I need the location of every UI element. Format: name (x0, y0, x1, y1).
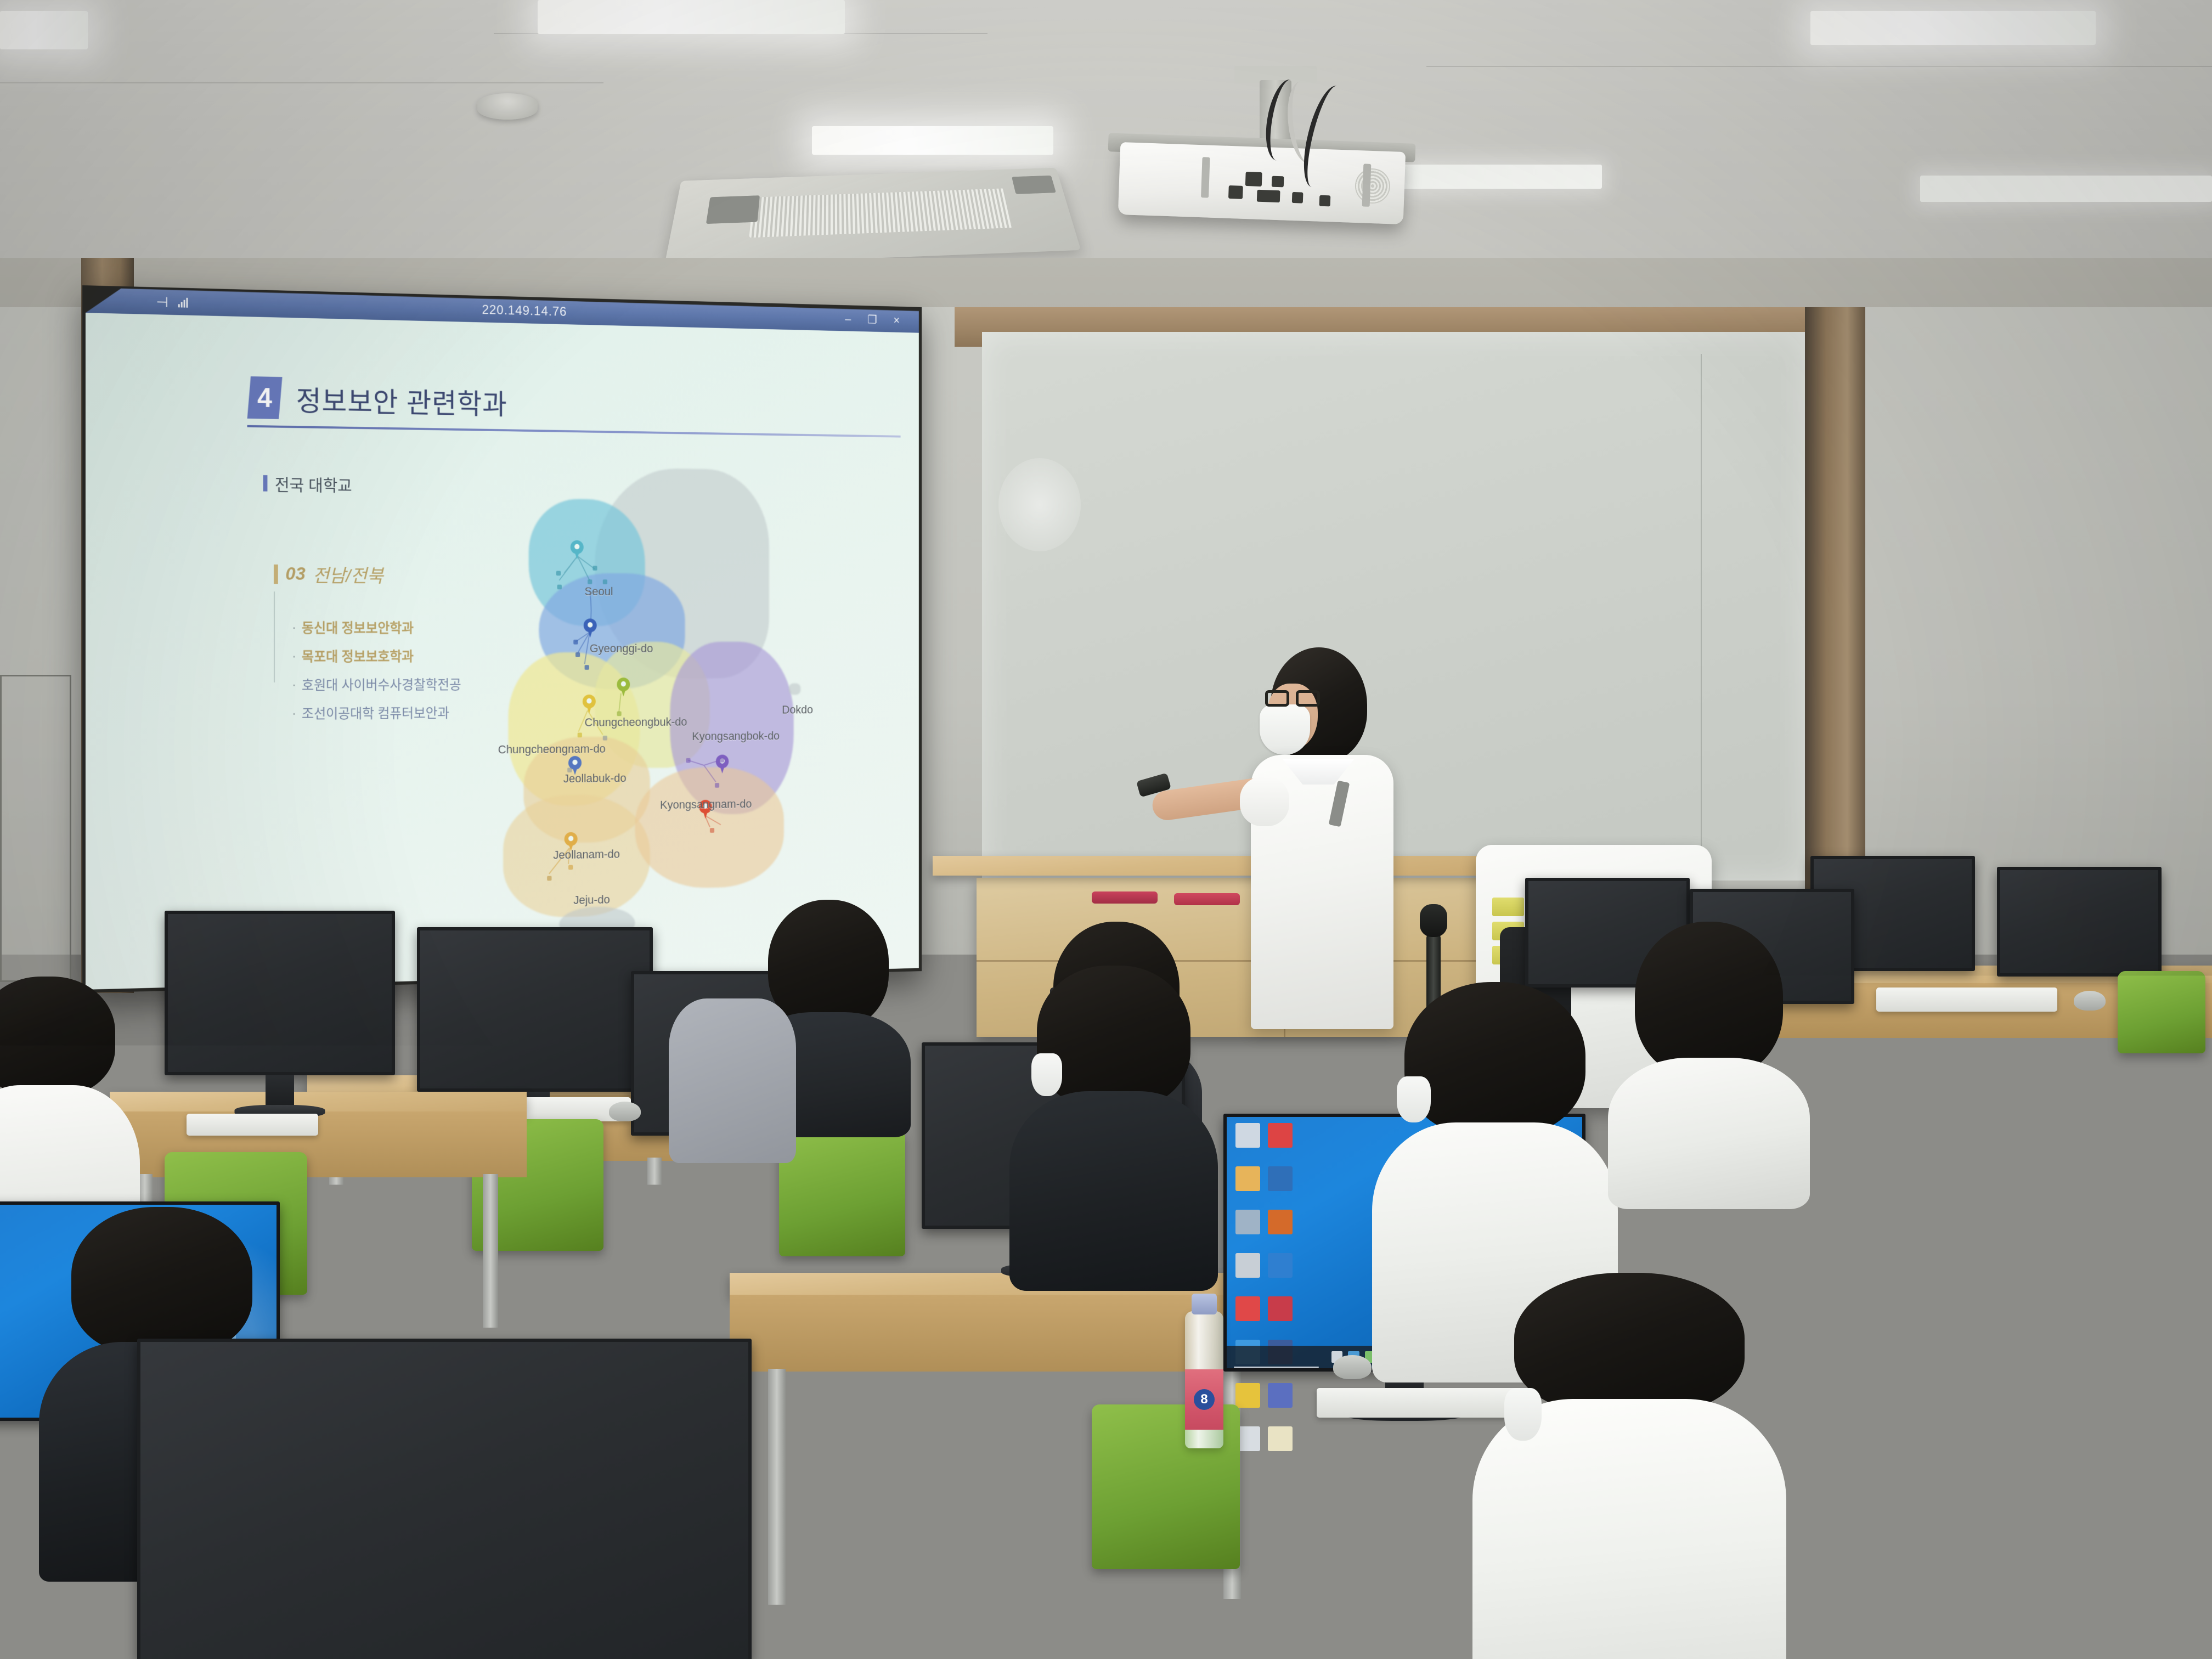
map-pin-chungcheongbuk-do[interactable] (617, 678, 630, 696)
slide-subtitle: 전국 대학교 (263, 471, 352, 496)
student-torso (1608, 1058, 1809, 1209)
student-head (0, 977, 115, 1096)
list-item: 호원대 사이버수사경찰학전공 (292, 674, 461, 694)
mouse[interactable] (2074, 991, 2106, 1011)
ceiling-mounted-projector (1086, 66, 1437, 230)
student-head (1514, 1273, 1745, 1415)
face-mask (1260, 704, 1310, 755)
subtitle-accent-bar (263, 475, 268, 492)
student (686, 998, 779, 1163)
face-mask (1031, 1053, 1062, 1096)
ceiling-light (812, 126, 1053, 155)
south-korea-region-map: Seoul Gyeonggi-do Chungcheongbuk-do Chun… (488, 466, 848, 935)
header-divider (247, 425, 901, 438)
desktop-icon-grid[interactable] (1235, 1123, 1293, 1333)
desktop-monitor[interactable] (417, 927, 653, 1092)
taskbar-search-box[interactable] (1234, 1367, 1319, 1368)
bottle-badge: 8 (1819, 1600, 1840, 1621)
map-label-jeollabuk-do: Jeollabuk-do (563, 771, 627, 786)
mouse[interactable] (1333, 1355, 1372, 1379)
map-pin-chungcheongnam-do[interactable] (583, 695, 596, 713)
bottle-cap (1814, 1490, 1846, 1512)
whiteboard-marker[interactable] (1174, 893, 1240, 905)
ceiling-light (0, 11, 88, 49)
signal-bars-icon (178, 297, 188, 307)
desktop-monitor[interactable] (1997, 867, 2162, 977)
presenter-sleeve (1240, 777, 1289, 826)
taskbar-icon[interactable] (1885, 1641, 1898, 1654)
desktop-monitor[interactable] (137, 1339, 752, 1659)
bottle-badge: 8 (1194, 1389, 1215, 1410)
presentation-slide: 4 정보보안 관련학과 전국 대학교 03 전남/전북 동신대 정보보안학과 (86, 313, 919, 990)
wall-panel (0, 675, 71, 982)
keyboard[interactable] (1317, 1388, 1536, 1418)
student (1635, 922, 1783, 1174)
wood-column (1805, 307, 1865, 949)
shirt-collar (1283, 759, 1354, 785)
map-label-kyongsangbok-do: Kyongsangbok-do (692, 729, 780, 743)
green-chair[interactable] (2118, 971, 2205, 1053)
student (2107, 1459, 2212, 1659)
ceiling-light (1920, 176, 2212, 202)
map-label-seoul: Seoul (585, 585, 613, 599)
bottle-cap (1192, 1294, 1217, 1314)
region-accent-bar (274, 564, 278, 584)
list-item: 목포대 정보보호학과 (292, 646, 461, 666)
smoke-detector-icon (477, 93, 538, 120)
face-mask (1397, 1076, 1431, 1122)
student-hoodie (1009, 1091, 1218, 1291)
projector-fan-vent (1355, 168, 1391, 204)
map-label-chungcheongbuk-do: Chungcheongbuk-do (585, 715, 687, 730)
bottle-label: 8 (1805, 1580, 1854, 1640)
region-block: 03 전남/전북 동신대 정보보안학과 목포대 정보보호학과 호원대 사이버수사… (274, 561, 461, 732)
ceiling-light (1810, 11, 2096, 45)
whiteboard-marker[interactable] (1092, 891, 1158, 904)
map-pin-seoul[interactable] (571, 540, 584, 558)
eyeglasses-icon (1265, 690, 1322, 709)
map-label-kyongsangnam-do: Kyongsangnam-do (660, 797, 752, 812)
map-label-gyeonggi-do: Gyeonggi-do (590, 642, 653, 656)
list-item: 동신대 정보보안학과 (292, 618, 461, 637)
student-head (768, 900, 889, 1029)
bottle-label: 8 (1185, 1369, 1223, 1430)
close-button[interactable]: × (893, 314, 899, 328)
face-mask (1504, 1388, 1542, 1441)
pin-icon[interactable]: ⊣ (156, 294, 168, 311)
list-item: 조선이공대학 컴퓨터보안과 (292, 703, 461, 723)
maximize-button[interactable]: ❐ (867, 313, 877, 327)
desktop-monitor[interactable] (165, 911, 395, 1075)
minimize-button[interactable]: – (845, 312, 851, 326)
keyboard[interactable] (187, 1114, 318, 1136)
region-heading: 03 전남/전북 (274, 561, 461, 588)
presenter (1251, 647, 1393, 1031)
map-label-dokdo: Dokdo (782, 703, 813, 716)
student-head (1635, 922, 1783, 1078)
taskbar-icon[interactable] (1865, 1641, 1878, 1654)
map-label-jeollanam-do: Jeollanam-do (553, 847, 620, 862)
section-number-badge: 4 (247, 376, 283, 419)
student (1037, 966, 1190, 1251)
map-label-chungcheongnam-do: Chungcheongnam-do (498, 742, 606, 757)
whiteboard (982, 332, 1805, 881)
slide-header: 4 정보보안 관련학과 (247, 376, 507, 423)
water-bottle[interactable]: 8 (1185, 1311, 1223, 1448)
classroom-scene: ⊣ 220.149.14.76 – ❐ × 4 정보보안 관련학과 전국 대학교 (0, 0, 2212, 1659)
department-list: 동신대 정보보안학과 목포대 정보보호학과 호원대 사이버수사경찰학전공 조선이… (274, 618, 461, 723)
student-torso (669, 998, 795, 1163)
ceiling-light (538, 0, 845, 34)
ac-grille (749, 188, 1012, 238)
map-connector-lines (488, 466, 848, 935)
student-head (71, 1207, 252, 1355)
student-head (2107, 1459, 2212, 1589)
page-title: 정보보안 관련학과 (296, 378, 507, 422)
student-head (1404, 982, 1585, 1137)
projection-screen: ⊣ 220.149.14.76 – ❐ × 4 정보보안 관련학과 전국 대학교 (82, 285, 922, 993)
ceiling-cassette-air-conditioner (664, 168, 1081, 267)
green-chair[interactable] (779, 1130, 905, 1256)
keyboard[interactable] (1876, 988, 2057, 1012)
mouse[interactable] (609, 1102, 641, 1121)
map-pin-gyeonggi-do[interactable] (584, 618, 597, 636)
map-label-jeju-do: Jeju-do (573, 893, 610, 907)
shirt-stripe (1329, 781, 1350, 827)
microphone-head (1420, 904, 1447, 937)
water-bottle[interactable]: 8 (1805, 1509, 1854, 1659)
